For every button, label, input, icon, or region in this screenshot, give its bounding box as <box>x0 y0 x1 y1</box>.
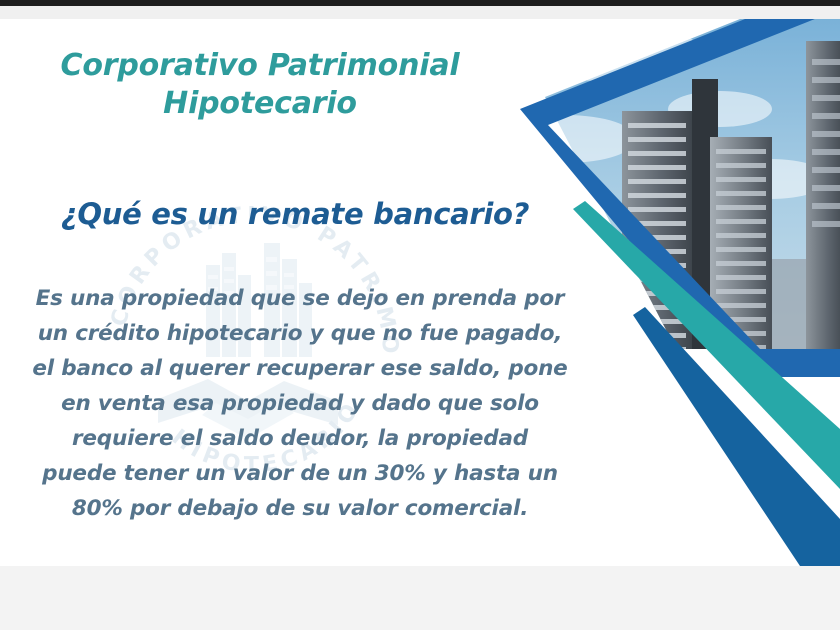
body-line: requiere el saldo deudor, la propiedad <box>0 421 600 456</box>
bottom-gray-strip <box>0 566 840 630</box>
body-line: Es una propiedad que se dejo en prenda p… <box>0 281 600 316</box>
flyer-screenshot: CORPORATIVO PATRIMONIAL HIPOTECARIO <box>0 0 840 630</box>
body-line: un crédito hipotecario y que no fue paga… <box>0 316 600 351</box>
brand-title-line-2: Hipotecario <box>0 85 520 123</box>
flyer-card: CORPORATIVO PATRIMONIAL HIPOTECARIO <box>0 19 840 566</box>
blue-wedge <box>633 307 840 566</box>
teal-wedge <box>573 201 840 489</box>
body-line: 80% por debajo de su valor comercial. <box>0 491 600 526</box>
question-heading: ¿Qué es un remate bancario? <box>0 197 590 231</box>
body-line: puede tener un valor de un 30% y hasta u… <box>0 456 600 491</box>
body-line: el banco al querer recuperar ese saldo, … <box>0 351 600 386</box>
top-gray-strip <box>0 6 840 19</box>
brand-title: Corporativo Patrimonial Hipotecario <box>0 47 520 123</box>
brand-title-line-1: Corporativo Patrimonial <box>61 48 460 83</box>
body-copy: Es una propiedad que se dejo en prenda p… <box>0 281 600 526</box>
body-line: en venta esa propiedad y dado que solo <box>0 386 600 421</box>
